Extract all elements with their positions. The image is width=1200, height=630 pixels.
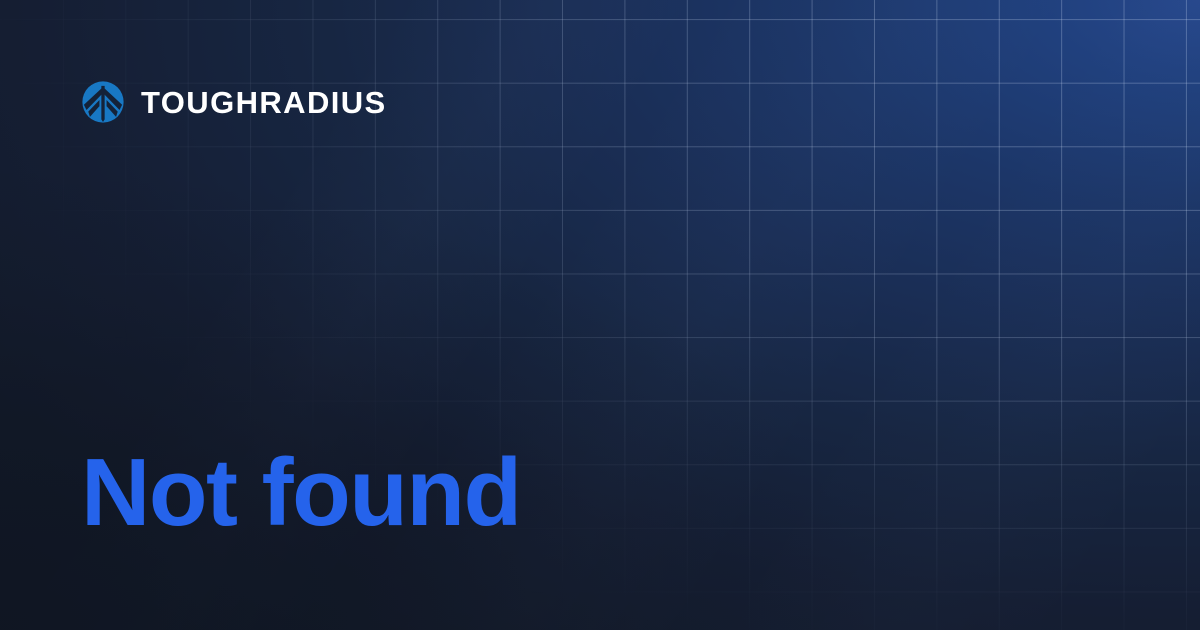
toughradius-logo-icon: [81, 80, 125, 124]
brand-lockup: TOUGHRADIUS: [81, 80, 387, 124]
brand-name: TOUGHRADIUS: [141, 87, 387, 118]
card-content: TOUGHRADIUS Not found: [0, 0, 1200, 630]
page-title: Not found: [81, 443, 521, 544]
og-card: TOUGHRADIUS Not found: [0, 0, 1200, 630]
